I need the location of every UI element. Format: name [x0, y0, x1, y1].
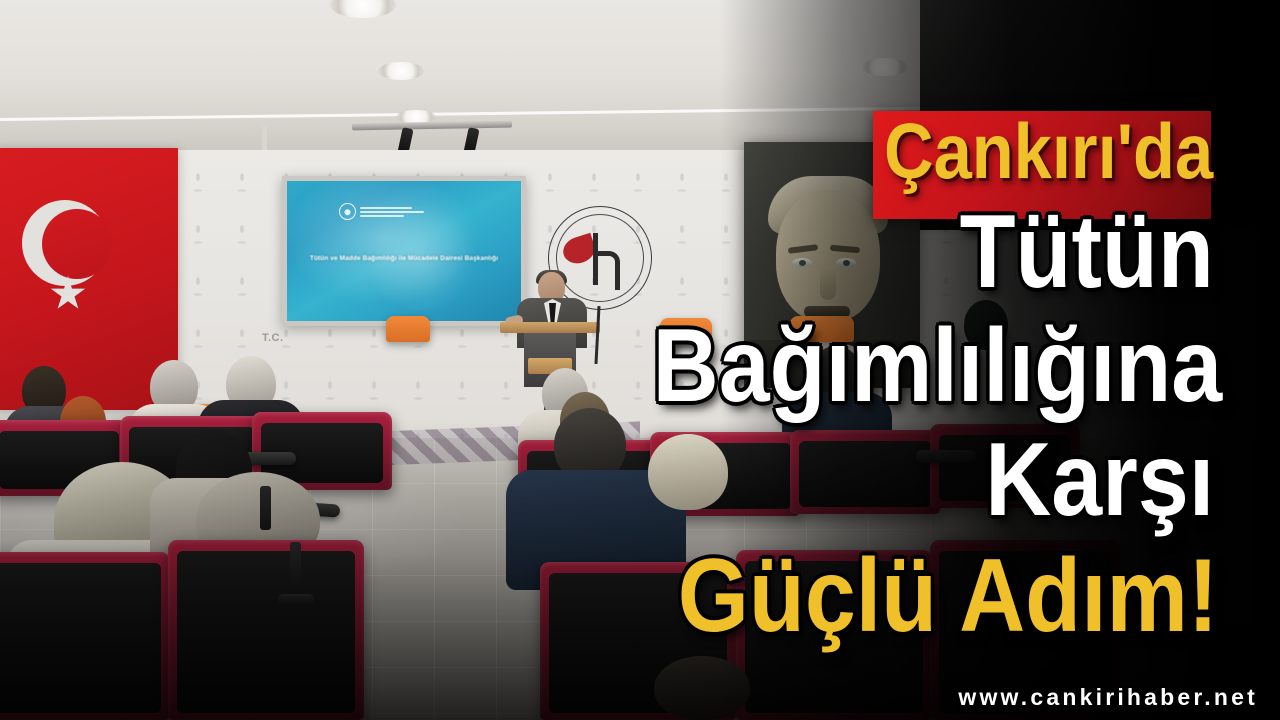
auditorium-seat — [168, 540, 364, 720]
projection-screen: Tütün ve Madde Bağımlılığı ile Mücadele … — [282, 176, 526, 326]
crescent-icon — [22, 200, 108, 286]
wall-label-tc: T.C. — [262, 332, 284, 344]
headline-kicker: Çankırı'da — [884, 118, 1213, 185]
ceiling-light-icon — [378, 62, 424, 80]
portrait-face — [776, 190, 880, 322]
ministry-logo-icon — [339, 203, 424, 220]
news-thumbnail: T.C. Tütün ve Madde Bağımlılığı ile Müca… — [0, 0, 1280, 720]
site-watermark[interactable]: www.cankirihaber.net — [958, 684, 1258, 711]
slide-title: Tütün ve Madde Bağımlılığı ile Mücadele … — [301, 253, 507, 265]
headline-line-2: Tütün — [960, 208, 1214, 297]
portrait-nose — [820, 268, 836, 300]
seat-foot — [278, 594, 314, 605]
podium-top — [500, 322, 600, 333]
person-head — [648, 434, 728, 510]
auditorium-seat — [0, 552, 170, 720]
projection-surface: Tütün ve Madde Bağımlılığı ile Mücadele … — [287, 181, 521, 321]
seat-leg — [290, 542, 301, 596]
headline-line-5: Güçlü Adım! — [677, 552, 1218, 641]
seat-orange — [386, 316, 430, 342]
seat-armrest — [916, 450, 976, 463]
headline-line-3: Bağımlılığına — [652, 322, 1222, 411]
turkish-flag — [0, 148, 178, 410]
ceiling-light-icon — [1058, 28, 1098, 43]
auditorium-seat — [790, 430, 940, 514]
ceiling-light-icon — [862, 58, 908, 76]
ministry-logo-text — [360, 207, 424, 217]
person-head — [654, 656, 750, 720]
headline-line-4: Karşı — [985, 436, 1214, 525]
portrait-eye — [836, 258, 856, 267]
emblem-h-icon — [587, 233, 617, 285]
portrait-eye — [792, 258, 812, 267]
ministry-mark-icon — [339, 203, 356, 220]
seat-leg — [260, 486, 271, 530]
